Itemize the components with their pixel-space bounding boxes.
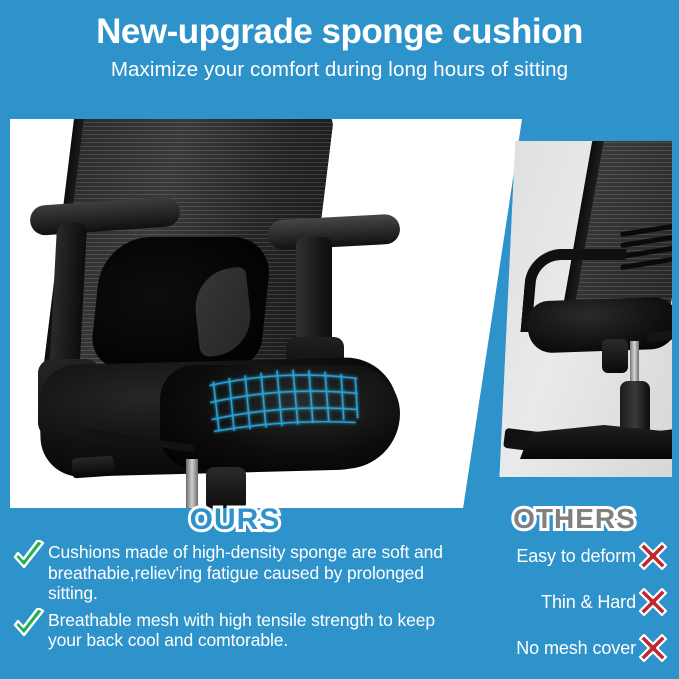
- check-icon: [12, 608, 46, 642]
- page-title: New-upgrade sponge cushion: [0, 12, 679, 52]
- comparison-section: OURS OTHERS Cushions made of high-densit…: [0, 500, 679, 679]
- page-subtitle: Maximize your comfort during long hours …: [0, 58, 679, 82]
- ours-heading: OURS: [0, 503, 470, 537]
- list-item: Thin & Hard: [470, 586, 673, 618]
- cross-icon: [637, 540, 669, 572]
- product-infographic: New-upgrade sponge cushion Maximize your…: [0, 0, 679, 679]
- list-item: Breathable mesh with high tensile streng…: [12, 610, 472, 651]
- cross-icon: [637, 632, 669, 664]
- check-icon: [12, 540, 46, 574]
- header-banner: New-upgrade sponge cushion Maximize your…: [0, 0, 679, 108]
- competitor-tension-knob: [602, 339, 628, 373]
- list-item-label: Thin & Hard: [541, 592, 636, 613]
- cross-icon: [637, 586, 669, 618]
- ours-benefits-list: Cushions made of high-density sponge are…: [12, 542, 472, 657]
- competitor-chair-illustration: [496, 141, 672, 477]
- sponge-grid-overlay: [207, 364, 361, 435]
- list-item: Cushions made of high-density sponge are…: [12, 542, 472, 604]
- competitor-seat: [527, 296, 672, 353]
- list-item: Easy to deform: [470, 540, 673, 572]
- others-drawbacks-list: Easy to deform Thin & Hard No mesh cover: [470, 540, 673, 678]
- photo-zone: [0, 108, 679, 500]
- list-item-label: Breathable mesh with high tensile streng…: [48, 610, 472, 651]
- others-heading: OTHERS: [470, 503, 679, 535]
- list-item-label: Cushions made of high-density sponge are…: [48, 542, 472, 604]
- list-item-label: Easy to deform: [516, 546, 636, 567]
- list-item-label: No mesh cover: [516, 638, 636, 659]
- right-armrest-pad: [267, 214, 400, 251]
- main-product-photo: [10, 119, 522, 508]
- height-adjust-paddle: [71, 456, 114, 479]
- main-chair-illustration: [10, 119, 522, 508]
- list-item: No mesh cover: [470, 632, 673, 664]
- competitor-back-slats: [620, 227, 672, 269]
- competitor-product-photo: [496, 141, 672, 477]
